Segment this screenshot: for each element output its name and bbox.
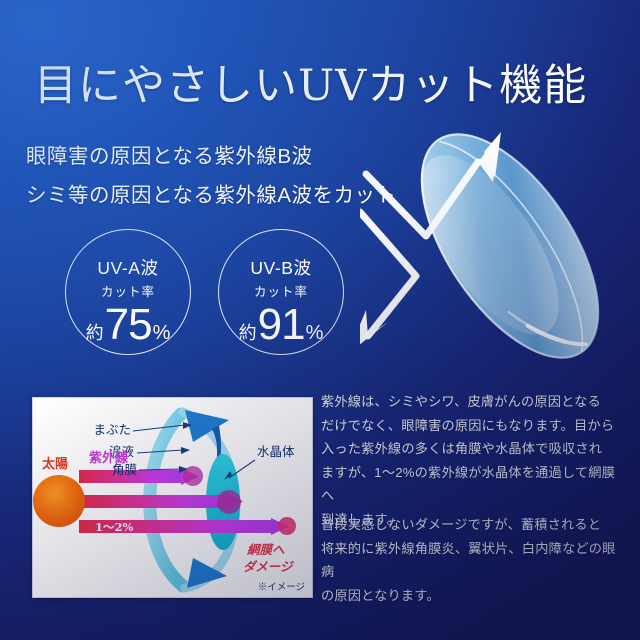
body-paragraph-2: 普段実感しないダメージですが、蓄積されると将来的に紫外線角膜炎、翼状片、白内障な… (321, 513, 621, 607)
label-damage-line1: 網膜へ (246, 542, 285, 557)
body-text-line: だけでなく、眼障害の原因にもなります。目から (321, 414, 621, 438)
stat-badge-uv-b: UV-B波 カット率 約 91 % (218, 229, 344, 355)
body-paragraph-1: 紫外線は、シミやシワ、皮膚がんの原因となるだけでなく、眼障害の原因にもなります。… (321, 390, 621, 532)
body-text-line: の原因となります。 (321, 584, 621, 608)
label-percent: 1〜2% (95, 520, 134, 534)
body-text-line: 普段実感しないダメージですが、蓄積されると (321, 513, 621, 537)
badge-percent-sign: % (153, 322, 171, 345)
label-uv: 紫外線 (89, 450, 129, 466)
badge-value-group: 約 75 % (86, 303, 171, 347)
badge-wave-label: UV-A波 (97, 255, 158, 280)
advertisement-banner: 目にやさしいUVカット機能 眼障害の原因となる紫外線B波 シミ等の原因となる紫外… (0, 0, 640, 640)
contact-lens-illustration (360, 86, 640, 386)
badge-value-group: 約 91 % (239, 303, 324, 347)
body-text-line: 将来的に紫外線角膜炎、翼状片、白内障などの眼病 (321, 537, 621, 584)
body-text-line: 紫外線は、シミやシワ、皮膚がんの原因となる (321, 390, 621, 414)
badge-number: 91 (258, 303, 305, 347)
reflected-uv-arrow-down (360, 212, 416, 354)
badge-approx: 約 (239, 319, 257, 345)
label-crystalline-lens: 水晶体 (257, 444, 295, 459)
label-damage-line2: ダメージ (243, 559, 295, 574)
badge-rate-label: カット率 (101, 281, 155, 300)
sun-icon (33, 475, 85, 527)
body-text-line: 入った紫外線の多くは角膜や水晶体で吸収され (321, 437, 621, 461)
badge-percent-sign: % (306, 322, 324, 345)
stat-badge-uv-a: UV-A波 カット率 約 75 % (65, 229, 191, 355)
badge-wave-label: UV-B波 (250, 255, 311, 280)
label-eyelid: まぶた (93, 422, 131, 437)
badge-number: 75 (105, 303, 152, 347)
badge-approx: 約 (86, 319, 104, 345)
label-sun: 太陽 (41, 456, 68, 472)
badge-rate-label: カット率 (254, 281, 308, 300)
body-text-line: ますが、1〜2%の紫外線が水晶体を通過して網膜へ (321, 461, 621, 508)
eye-uv-diagram-panel: まぶた 涙液 角膜 水晶体 太陽 紫外線 1〜2% 網膜へ ダメージ ※イメージ (32, 397, 313, 598)
diagram-caption: ※イメージ (258, 582, 305, 593)
